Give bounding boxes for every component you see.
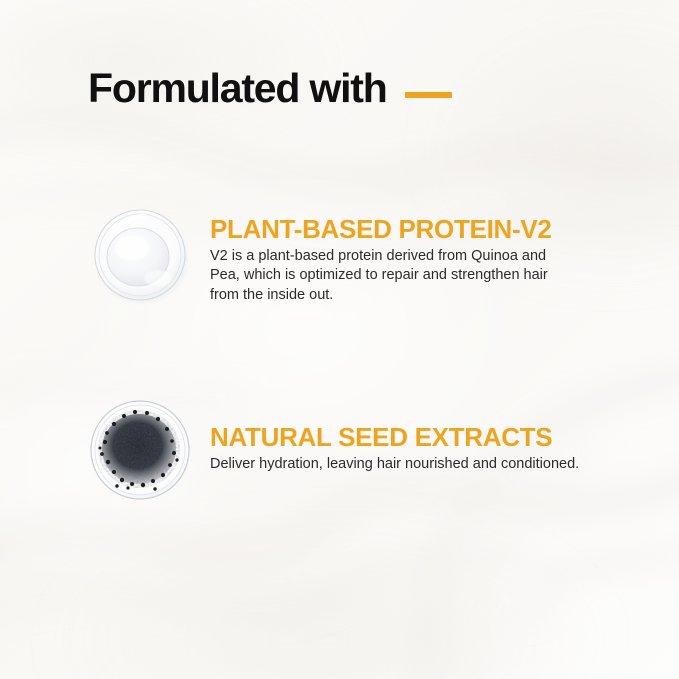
ingredient-title: NATURAL SEED EXTRACTS [210, 424, 610, 451]
ingredient-description: Deliver hydration, leaving hair nourishe… [210, 455, 610, 474]
clear-gel-dish-icon [86, 200, 194, 308]
seed-dish-icon [86, 396, 194, 504]
ingredient-text: NATURAL SEED EXTRACTS Deliver hydration,… [210, 396, 610, 474]
section-header: Formulated with [88, 68, 452, 109]
ingredient-item: PLANT-BASED PROTEIN-V2 V2 is a plant-bas… [86, 200, 610, 308]
formulated-with-panel: Formulated with [0, 0, 679, 679]
ingredient-item: NATURAL SEED EXTRACTS Deliver hydration,… [86, 396, 610, 504]
ingredient-description: V2 is a plant-based protein derived from… [210, 247, 576, 304]
ingredient-text: PLANT-BASED PROTEIN-V2 V2 is a plant-bas… [210, 200, 610, 305]
ingredient-title: PLANT-BASED PROTEIN-V2 [210, 216, 610, 243]
page-title: Formulated with [88, 68, 387, 109]
header-accent-dash [405, 92, 452, 98]
